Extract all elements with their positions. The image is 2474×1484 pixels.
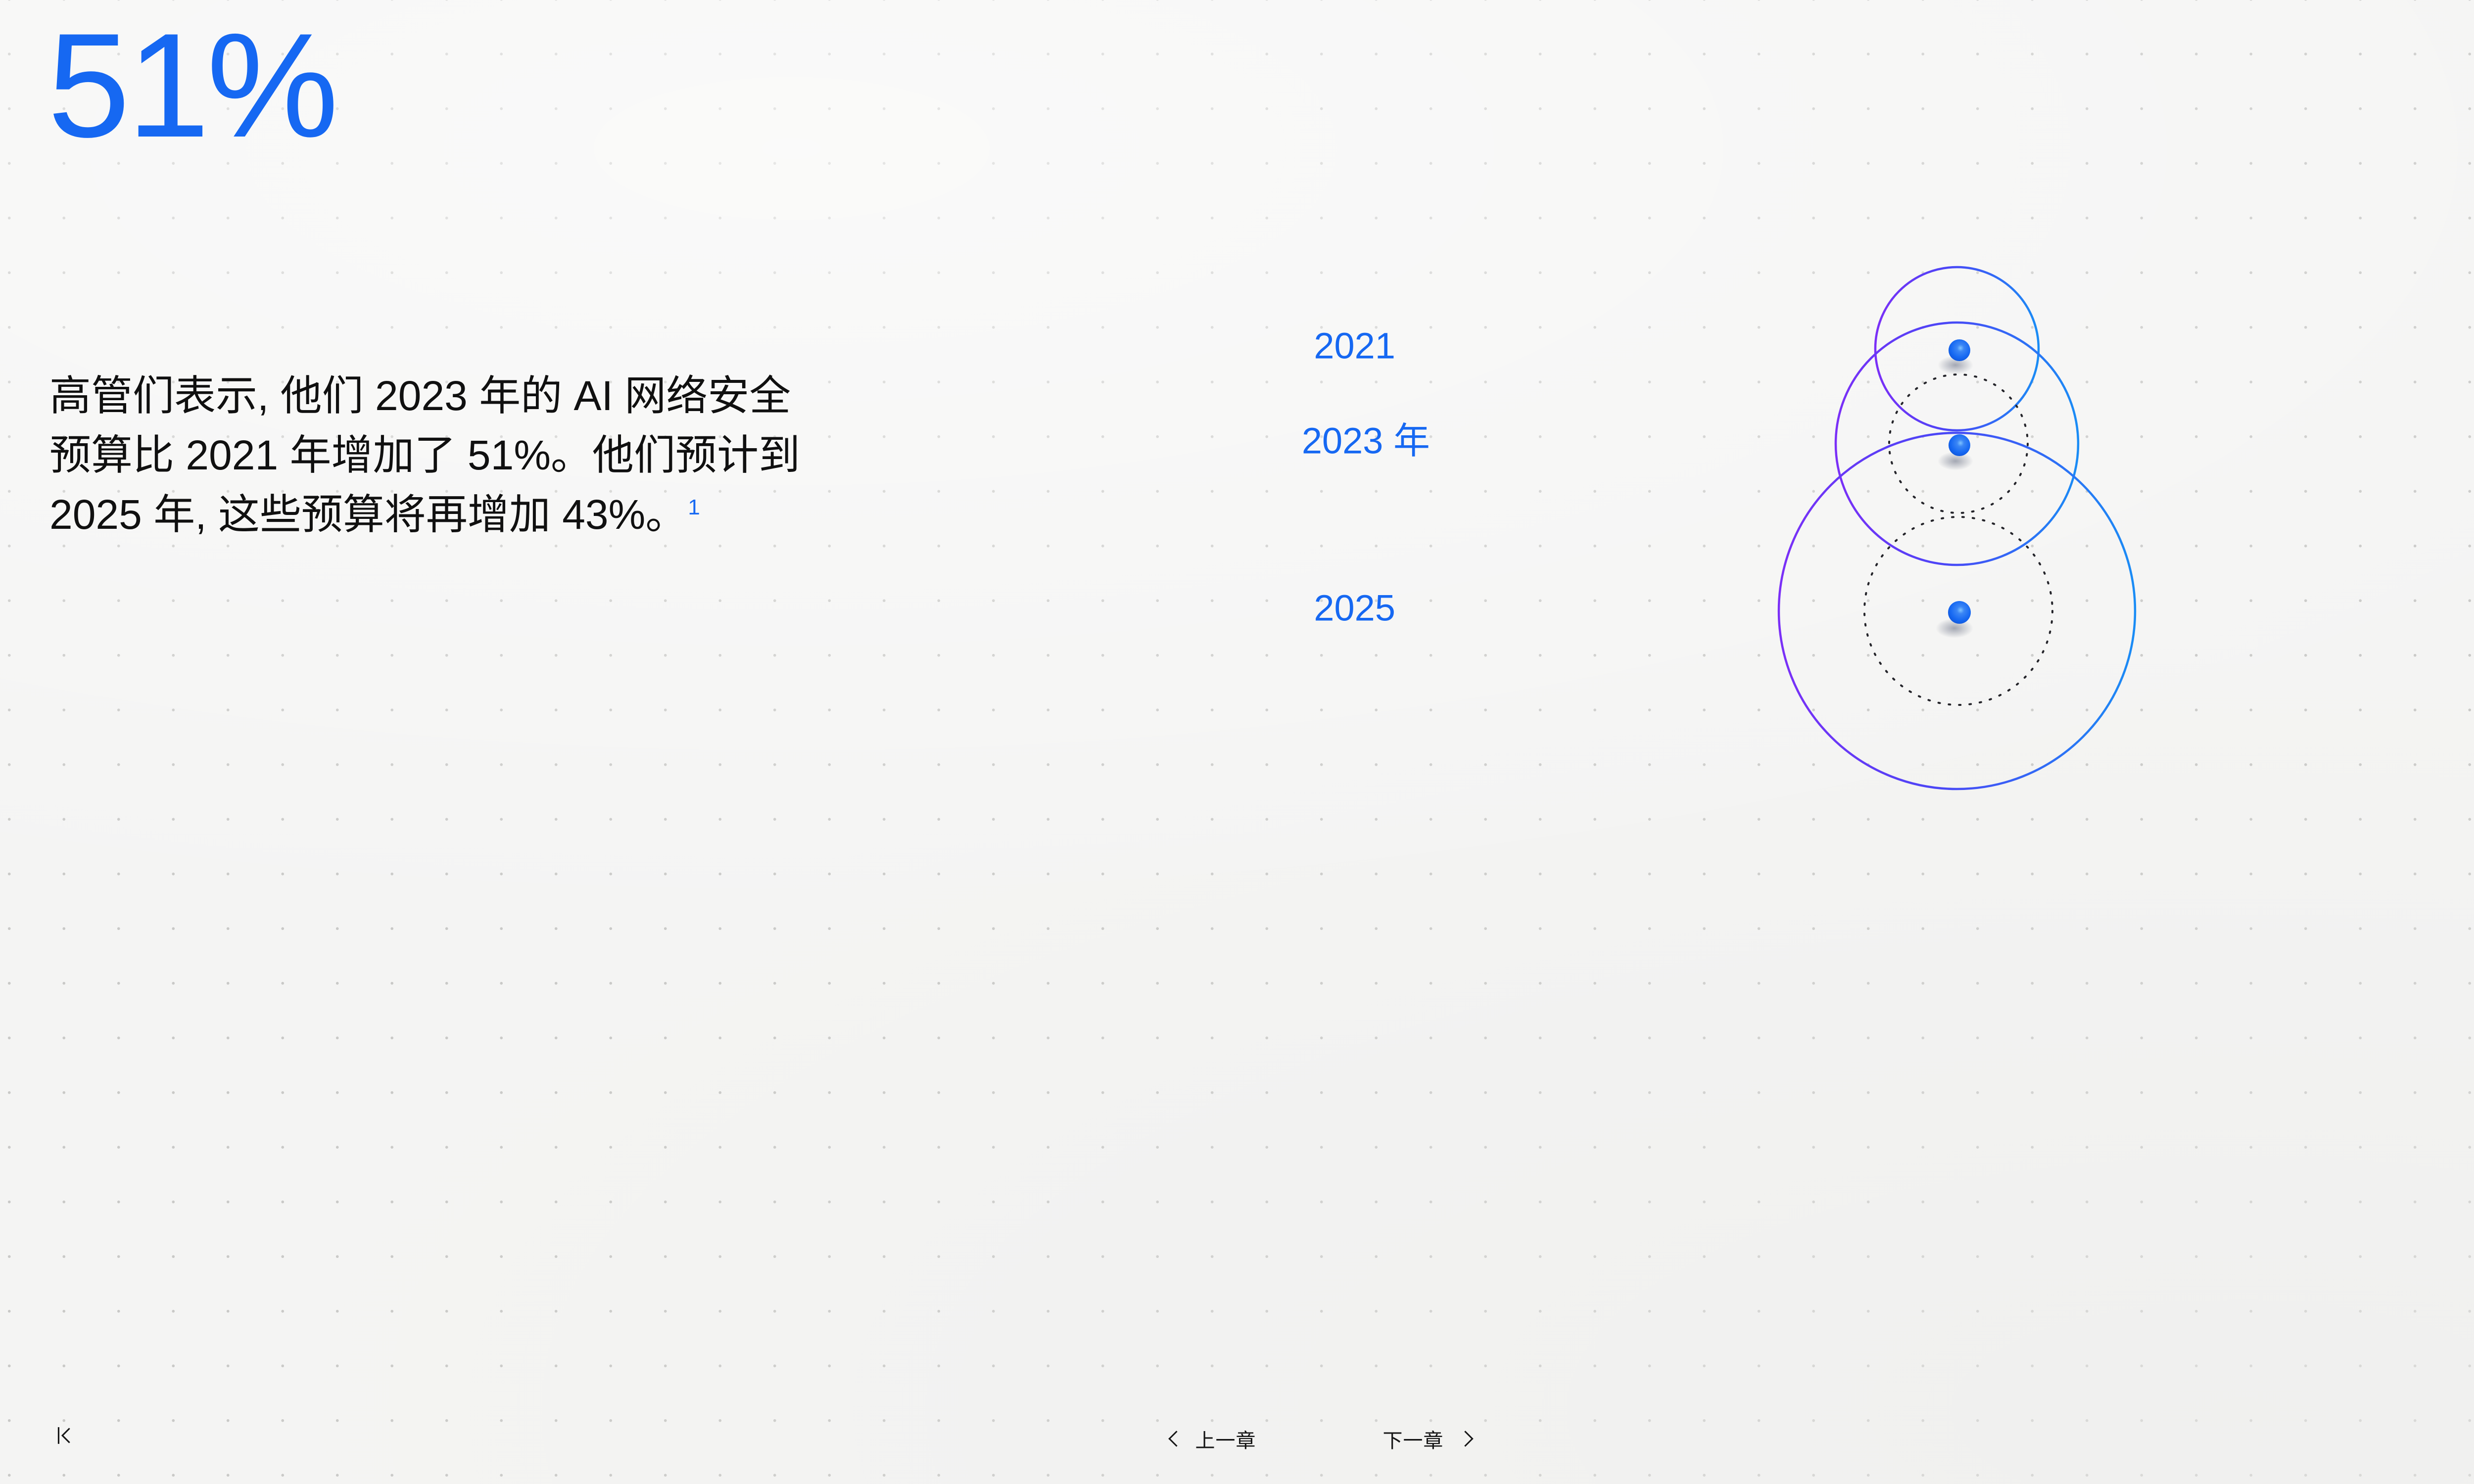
body-paragraph: 高管们表示, 他们 2023 年的 AI 网络安全预算比 2021 年增加了 5… bbox=[49, 366, 821, 544]
marker-sphere-2023 bbox=[1949, 434, 1970, 456]
chapter-navigation: 上一章 下一章 bbox=[1170, 1425, 1470, 1453]
left-content-column: 51% 高管们表示, 他们 2023 年的 AI 网络安全预算比 2021 年增… bbox=[48, 0, 889, 1484]
chevron-right-icon bbox=[1459, 1430, 1470, 1448]
slide-page: 51% 高管们表示, 他们 2023 年的 AI 网络安全预算比 2021 年增… bbox=[0, 0, 2474, 1484]
bubble-group-2021[interactable]: 2021 bbox=[1314, 267, 2039, 430]
bubble-label-2023: 2023 年 bbox=[1302, 420, 1430, 462]
marker-sphere-2021 bbox=[1949, 339, 1970, 361]
bubble-group-2025[interactable]: 2025 bbox=[1314, 433, 2135, 789]
bubble-diagram: 2021 2023 年 2025 bbox=[1336, 277, 2276, 1316]
skip-to-first-button[interactable] bbox=[48, 1421, 79, 1452]
marker-sphere-2025 bbox=[1948, 601, 1971, 624]
previous-chapter-label: 上一章 bbox=[1195, 1425, 1256, 1453]
previous-chapter-button[interactable]: 上一章 bbox=[1170, 1425, 1256, 1453]
next-chapter-label: 下一章 bbox=[1383, 1425, 1444, 1453]
bottom-navigation-bar: 上一章 下一章 8 bbox=[0, 1400, 2474, 1484]
bubble-label-2025: 2025 bbox=[1314, 588, 1395, 629]
chevron-left-icon bbox=[1170, 1430, 1181, 1448]
bubble-label-2021: 2021 bbox=[1314, 325, 1395, 367]
footnote-reference[interactable]: 1 bbox=[688, 495, 700, 519]
stat-headline: 51% bbox=[48, 11, 335, 159]
skip-to-first-icon bbox=[52, 1424, 75, 1449]
next-chapter-button[interactable]: 下一章 bbox=[1383, 1425, 1470, 1453]
